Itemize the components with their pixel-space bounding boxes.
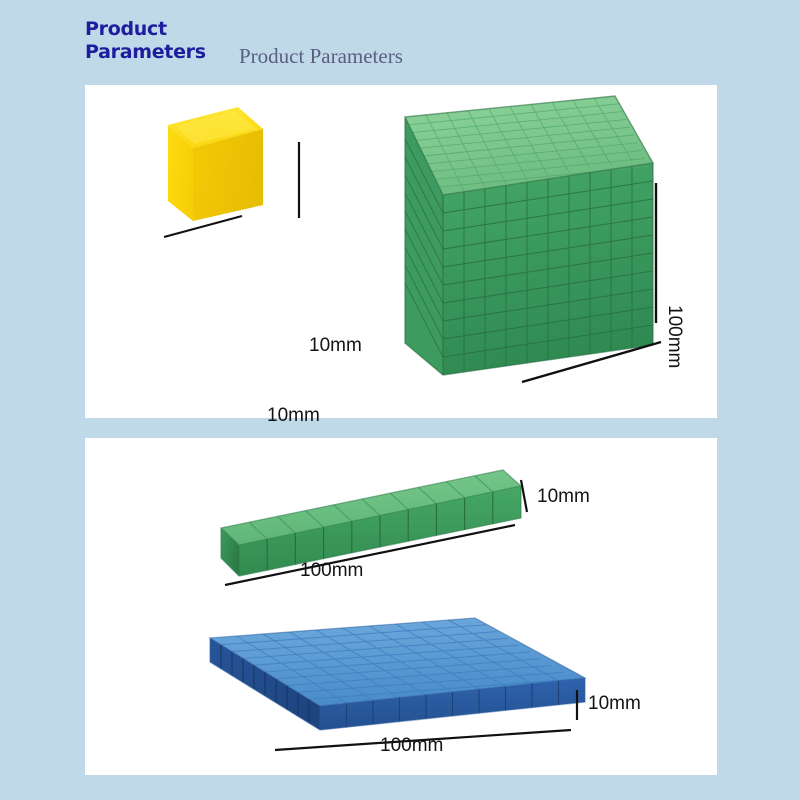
unit-cube-height-label: 10mm: [309, 335, 362, 357]
page-header: Product Parameters Product Parameters: [0, 0, 800, 85]
thousand-cube-shape: [405, 96, 653, 375]
panel-top-illustration: [85, 85, 717, 418]
hundred-flat-width-label: 100mm: [380, 735, 443, 757]
unit-cube-shape: [168, 107, 263, 221]
parameters-panel-bottom: 10mm 100mm 10mm 100mm: [85, 438, 717, 775]
unit-cube-width-dimension: [164, 216, 242, 237]
ten-rod-length-label: 100mm: [300, 560, 363, 582]
thousand-cube-height-label: 100mm: [663, 305, 685, 368]
ten-rod-height-dimension: [521, 480, 527, 512]
hundred-flat-shape: [210, 618, 585, 730]
panel-bottom-illustration: [85, 438, 717, 775]
unit-cube-width-label: 10mm: [267, 405, 320, 427]
ten-rod-shape: [221, 470, 521, 576]
parameters-panel-top: 10mm 10mm 100mm 100mm: [85, 85, 717, 418]
ten-rod-height-label: 10mm: [537, 486, 590, 508]
page-title: Product Parameters: [85, 18, 235, 64]
page-subtitle: Product Parameters: [239, 44, 403, 69]
hundred-flat-height-label: 10mm: [588, 693, 641, 715]
